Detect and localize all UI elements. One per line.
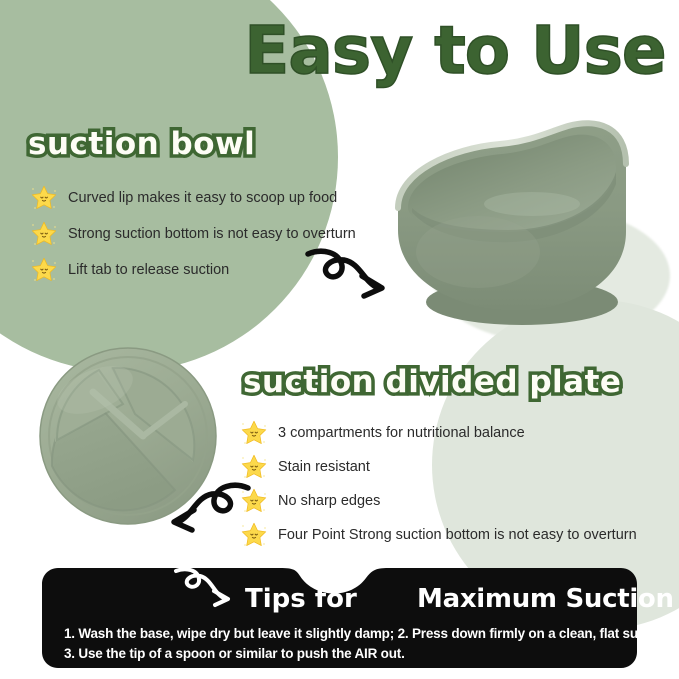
section-heading-suction-bowl: suction bowl — [28, 126, 255, 162]
list-item: Curved lip makes it easy to scoop up foo… — [30, 180, 356, 216]
tips-line: 1. Wash the base, wipe dry but leave it … — [64, 624, 624, 644]
list-item: No sharp edges — [240, 484, 637, 518]
curly-arrow-right-icon — [170, 565, 242, 613]
list-item-label: Stain resistant — [278, 459, 370, 475]
star-bullet-icon — [240, 453, 268, 481]
list-item: Stain resistant — [240, 450, 637, 484]
list-item: 3 compartments for nutritional balance — [240, 416, 637, 450]
curly-arrow-left-icon — [160, 478, 254, 540]
list-item-label: Strong suction bottom is not easy to ove… — [68, 226, 356, 242]
tips-header-right: Maximum Suction — [417, 584, 674, 614]
feature-list-divided-plate: 3 compartments for nutritional balance S… — [240, 416, 637, 552]
page-title: Easy to Use — [240, 18, 670, 84]
curly-arrow-right-icon — [302, 244, 402, 306]
tips-banner: Tips for Maximum Suction 1. Wash the bas… — [42, 568, 637, 668]
star-bullet-icon — [30, 256, 58, 284]
infographic-page: Easy to Use suction bowl Curved lip make… — [0, 0, 679, 679]
star-bullet-icon — [240, 419, 268, 447]
tips-line: 3. Use the tip of a spoon or similar to … — [64, 644, 624, 664]
list-item-label: Lift tab to release suction — [68, 262, 229, 278]
list-item-label: Curved lip makes it easy to scoop up foo… — [68, 190, 337, 206]
tips-instructions: 1. Wash the base, wipe dry but leave it … — [64, 624, 624, 664]
star-bullet-icon — [30, 184, 58, 212]
list-item-label: No sharp edges — [278, 493, 380, 509]
list-item-label: 3 compartments for nutritional balance — [278, 425, 525, 441]
section-heading-suction-divided-plate: suction divided plate — [243, 364, 621, 400]
list-item-label: Four Point Strong suction bottom is not … — [278, 527, 637, 543]
star-bullet-icon — [30, 220, 58, 248]
tips-header-left: Tips for — [245, 584, 357, 614]
suction-bowl-photo — [382, 112, 674, 342]
list-item: Four Point Strong suction bottom is not … — [240, 518, 637, 552]
